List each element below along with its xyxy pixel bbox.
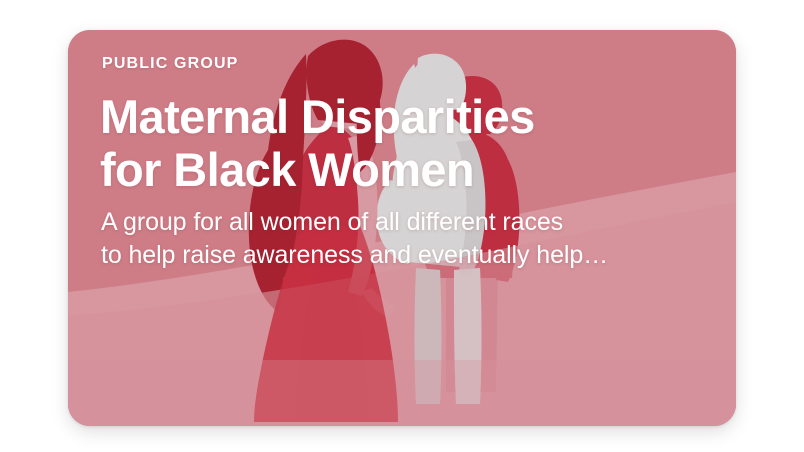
three-pregnant-women-illustration — [68, 30, 736, 426]
group-cover-card[interactable]: PUBLIC GROUP Maternal Disparitiesfor Bla… — [68, 30, 736, 426]
screenshot-canvas: PUBLIC GROUP Maternal Disparitiesfor Bla… — [0, 0, 804, 452]
bottom-fade — [68, 360, 736, 426]
